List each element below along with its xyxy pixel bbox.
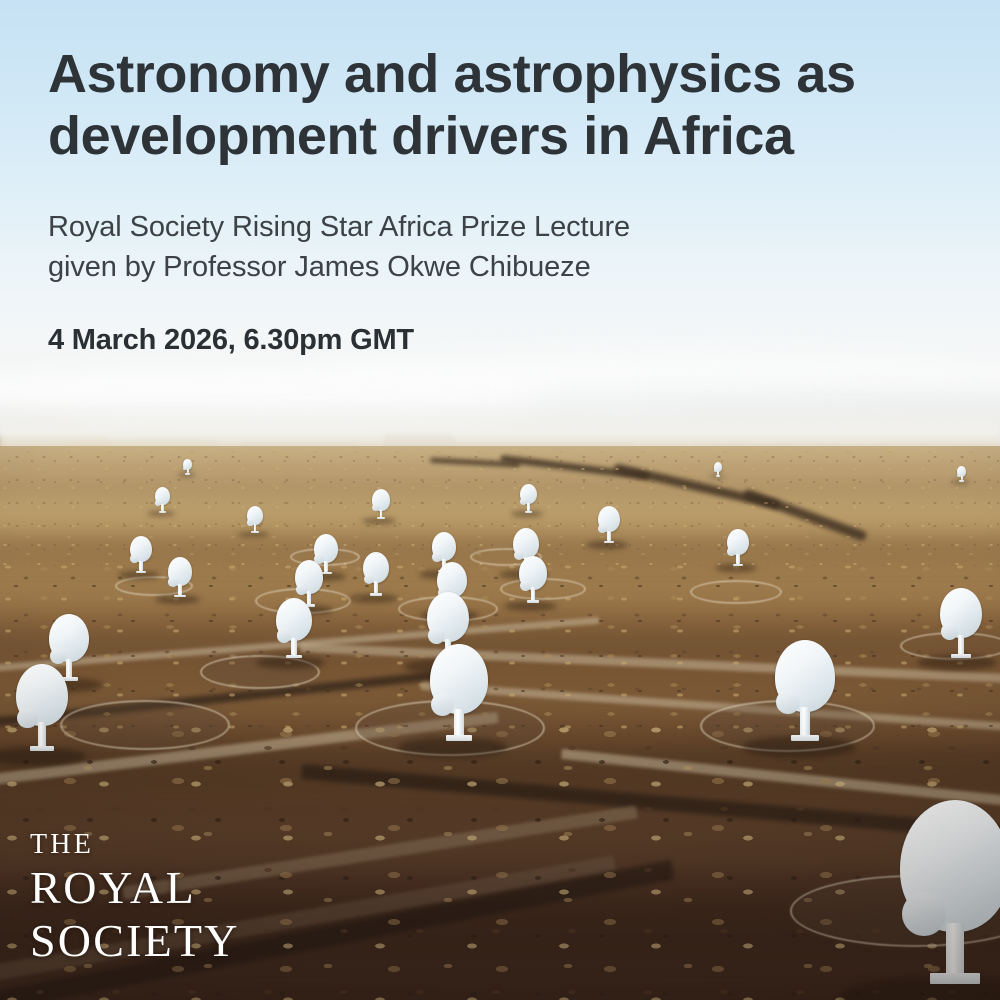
event-poster: Astronomy and astrophysics as developmen… (0, 0, 1000, 1000)
subtitle-line-1: Royal Society Rising Star Africa Prize L… (48, 211, 630, 243)
logo-line-royal: ROYAL (30, 865, 240, 911)
subtitle-line-2: given by Professor James Okwe Chibueze (48, 251, 591, 283)
event-subtitle: Royal Society Rising Star Africa Prize L… (48, 207, 958, 287)
title-line-2: development drivers in Africa (48, 106, 794, 166)
poster-copy: Astronomy and astrophysics as developmen… (48, 44, 958, 358)
logo-line-society: SOCIETY (30, 918, 240, 964)
title-line-1: Astronomy and astrophysics as (48, 44, 856, 104)
event-date: 4 March 2026, 6.30pm GMT (48, 323, 958, 358)
logo-line-the: THE (30, 831, 240, 859)
royal-society-logo: THE ROYAL SOCIETY (30, 831, 240, 964)
page-title: Astronomy and astrophysics as developmen… (48, 44, 958, 167)
